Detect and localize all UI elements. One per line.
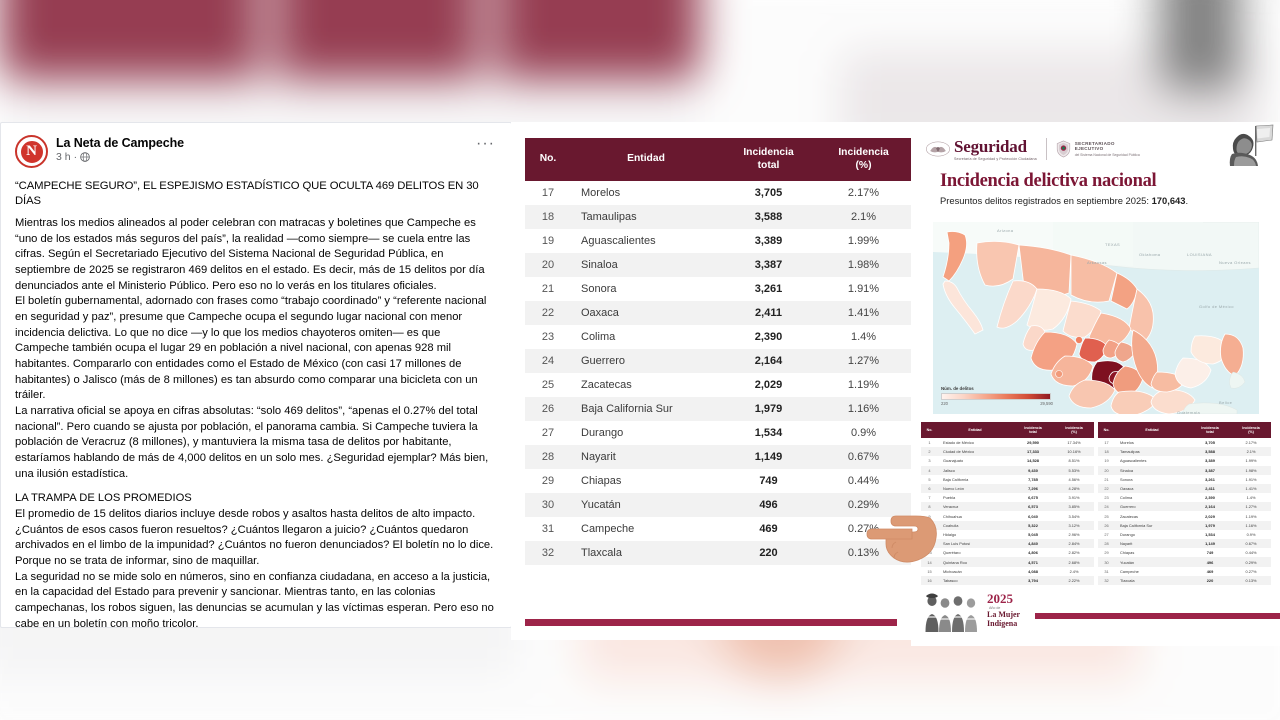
- table-row[interactable]: 25Zacatecas2,0291.19%: [525, 373, 911, 397]
- mini-table-row[interactable]: 1Estado de México29,59017.34%: [921, 438, 1094, 447]
- table-row[interactable]: 31Campeche4690.27%: [525, 517, 911, 541]
- map-label: TEXAS: [1105, 242, 1120, 247]
- mini-cell-no: 21: [1098, 475, 1115, 484]
- mini-cell-percent: 1.41%: [1231, 484, 1271, 493]
- mini-table-right: No. Entidad Incidenciatotal Incidencia(%…: [1098, 422, 1271, 585]
- map-label: Arkansas: [1087, 260, 1107, 265]
- mini-cell-no: 28: [1098, 539, 1115, 548]
- mini-table-row[interactable]: 27Durango1,5340.9%: [1098, 530, 1271, 539]
- mini-table-row[interactable]: 6Nuevo León7,2964.28%: [921, 484, 1094, 493]
- map-legend: Núm. de delitos 220 29,590: [941, 386, 1053, 406]
- mini-table-row[interactable]: 17Morelos3,7052.17%: [1098, 438, 1271, 447]
- mini-cell-no: 31: [1098, 567, 1115, 576]
- mini-table-row[interactable]: 21Sonora3,2611.91%: [1098, 475, 1271, 484]
- post-author-block: La Neta de Campeche 3 h ·: [56, 135, 184, 163]
- secretariado-line3: del Sistema Nacional de Seguridad Públic…: [1075, 153, 1140, 157]
- mini-col-no: No.: [921, 422, 938, 438]
- mini-cell-entidad: Ciudad de México: [938, 447, 1012, 456]
- table-cell-total: 2,029: [721, 373, 816, 397]
- mini-cell-percent: 0.27%: [1231, 567, 1271, 576]
- mini-cell-entidad: Sinaloa: [1115, 466, 1189, 475]
- mini-cell-total: 3,261: [1189, 475, 1231, 484]
- table-row[interactable]: 30Yucatán4960.29%: [525, 493, 911, 517]
- mini-tables-row: No. Entidad Incidenciatotal Incidencia(%…: [921, 422, 1271, 585]
- mini-cell-entidad: San Luis Potosí: [938, 539, 1012, 548]
- avatar-letter: N: [20, 140, 44, 164]
- map-label: Guatemala: [1177, 410, 1200, 414]
- table-cell-entidad: Durango: [571, 421, 721, 445]
- table-cell-entidad: Chiapas: [571, 469, 721, 493]
- mini-cell-no: 12: [921, 539, 938, 548]
- mini-table-row[interactable]: 29Chiapas7490.44%: [1098, 548, 1271, 557]
- mini-cell-entidad: Oaxaca: [1115, 484, 1189, 493]
- mini-table-row[interactable]: 24Guerrero2,1641.27%: [1098, 502, 1271, 511]
- table-cell-total: 2,164: [721, 349, 816, 373]
- mini-right-head: No. Entidad Incidenciatotal Incidencia(%…: [1098, 422, 1271, 438]
- mini-table-row[interactable]: 12San Luis Potosí4,8402.84%: [921, 539, 1094, 548]
- mini-cell-no: 18: [1098, 447, 1115, 456]
- mini-cell-total: 6,573: [1012, 502, 1054, 511]
- mini-cell-total: 3,705: [1189, 438, 1231, 447]
- mini-cell-percent: 1.27%: [1231, 502, 1271, 511]
- mini-table-row[interactable]: 32Tlaxcala2200.13%: [1098, 576, 1271, 585]
- map-legend-max: 29,590: [1040, 401, 1053, 406]
- mini-table-row[interactable]: 22Oaxaca2,4111.41%: [1098, 484, 1271, 493]
- table-row[interactable]: 32Tlaxcala2200.13%: [525, 541, 911, 565]
- mini-cell-entidad: Baja California Sur: [1115, 521, 1189, 530]
- mini-cell-entidad: Estado de México: [938, 438, 1012, 447]
- mini-cell-percent: 1.16%: [1231, 521, 1271, 530]
- mini-col-no: No.: [1098, 422, 1115, 438]
- mini-table-row[interactable]: 28Nayarit1,1490.67%: [1098, 539, 1271, 548]
- table-head: No. Entidad Incidenciatotal Incidencia(%…: [525, 138, 911, 181]
- mini-cell-total: 4,571: [1012, 557, 1054, 566]
- post-paragraph: El promedio de 15 delitos diarios incluy…: [15, 507, 497, 570]
- table-cell-total: 3,705: [721, 181, 816, 205]
- mini-table-row[interactable]: 20Sinaloa3,3871.98%: [1098, 466, 1271, 475]
- table-cell-no: 17: [525, 181, 571, 205]
- mini-cell-no: 8: [921, 502, 938, 511]
- mini-col-percent: Incidencia(%): [1054, 422, 1094, 438]
- table-row[interactable]: 21Sonora3,2611.91%: [525, 277, 911, 301]
- table-cell-total: 469: [721, 517, 816, 541]
- table-cell-entidad: Colima: [571, 325, 721, 349]
- table-cell-no: 29: [525, 469, 571, 493]
- post-body: Mientras los medios alineados al poder c…: [15, 216, 497, 628]
- mini-cell-no: 10: [921, 521, 938, 530]
- mini-cell-total: 749: [1189, 548, 1231, 557]
- table-cell-percent: 1.99%: [816, 229, 911, 253]
- mini-cell-entidad: Michoacán: [938, 567, 1012, 576]
- table-cell-entidad: Aguascalientes: [571, 229, 721, 253]
- post-headline: “CAMPECHE SEGURO”, EL ESPEJISMO ESTADÍST…: [15, 179, 497, 209]
- table-cell-entidad: Sinaloa: [571, 253, 721, 277]
- mini-table-row[interactable]: 16Tabasco3,7942.22%: [921, 576, 1094, 585]
- globe-icon: [80, 152, 90, 162]
- table-cell-total: 2,390: [721, 325, 816, 349]
- table-cell-percent: 1.27%: [816, 349, 911, 373]
- meta-separator: ·: [74, 151, 78, 163]
- more-options-button[interactable]: ···: [476, 139, 495, 149]
- post-meta: 3 h ·: [56, 151, 184, 163]
- mini-table-row[interactable]: 18Tamaulipas3,5882.1%: [1098, 447, 1271, 456]
- secretariado-text: SECRETARIADO EJECUTIVO del Sistema Nacio…: [1075, 141, 1140, 157]
- post-paragraph: La seguridad no se mide solo en números,…: [15, 570, 497, 628]
- table-cell-entidad: Morelos: [571, 181, 721, 205]
- mini-cell-no: 24: [1098, 502, 1115, 511]
- map-label: LOUISIANA: [1187, 252, 1212, 257]
- mini-cell-total: 4,088: [1012, 567, 1054, 576]
- brand-sub: Secretaría de Seguridad y Protección Ciu…: [954, 157, 1037, 161]
- mini-col-total: Incidenciatotal: [1189, 422, 1231, 438]
- table-cell-total: 3,389: [721, 229, 816, 253]
- mini-cell-entidad: Tabasco: [938, 576, 1012, 585]
- table-body: 17Morelos3,7052.17%18Tamaulipas3,5882.1%…: [525, 181, 911, 565]
- table-cell-entidad: Oaxaca: [571, 301, 721, 325]
- seguridad-wordmark: Seguridad Secretaría de Seguridad y Prot…: [954, 138, 1037, 161]
- mini-cell-percent: 10.16%: [1054, 447, 1094, 456]
- table-cell-entidad: Nayarit: [571, 445, 721, 469]
- mini-table-row[interactable]: 15Michoacán4,0882.4%: [921, 567, 1094, 576]
- avatar[interactable]: N: [15, 135, 48, 168]
- map-legend-scale: 220 29,590: [941, 401, 1053, 406]
- mini-cell-percent: 2.96%: [1054, 530, 1094, 539]
- mini-cell-percent: 3.54%: [1054, 511, 1094, 520]
- mini-cell-no: 16: [921, 576, 938, 585]
- column-header-entidad: Entidad: [571, 138, 721, 181]
- mini-cell-no: 5: [921, 475, 938, 484]
- table-row[interactable]: 17Morelos3,7052.17%: [525, 181, 911, 205]
- mini-cell-total: 6,675: [1012, 493, 1054, 502]
- map-label: Arizona: [997, 228, 1013, 233]
- post-header: N La Neta de Campeche 3 h · ···: [15, 135, 497, 168]
- map-label: Nueva Orleans: [1219, 260, 1251, 265]
- column-header-total: Incidenciatotal: [721, 138, 816, 181]
- table-row[interactable]: 27Durango1,5340.9%: [525, 421, 911, 445]
- table-row[interactable]: 22Oaxaca2,4111.41%: [525, 301, 911, 325]
- table-cell-percent: 1.4%: [816, 325, 911, 349]
- table-cell-total: 1,534: [721, 421, 816, 445]
- mini-cell-percent: 1.91%: [1231, 475, 1271, 484]
- mini-cell-total: 2,411: [1189, 484, 1231, 493]
- table-cell-no: 22: [525, 301, 571, 325]
- mini-cell-entidad: Sonora: [1115, 475, 1189, 484]
- mini-cell-entidad: Puebla: [938, 493, 1012, 502]
- mini-cell-percent: 0.29%: [1231, 557, 1271, 566]
- shield-icon: [1056, 140, 1071, 158]
- mini-left-body: 1Estado de México29,59017.34%2Ciudad de …: [921, 438, 1094, 585]
- mini-cell-entidad: Campeche: [1115, 567, 1189, 576]
- mini-cell-entidad: Tlaxcala: [1115, 576, 1189, 585]
- table-cell-percent: 0.29%: [816, 493, 911, 517]
- table-cell-no: 32: [525, 541, 571, 565]
- mini-cell-percent: 3.91%: [1054, 493, 1094, 502]
- mini-cell-total: 3,389: [1189, 456, 1231, 465]
- mini-table-row[interactable]: 11Hidalgo5,0452.96%: [921, 530, 1094, 539]
- mini-cell-entidad: Nuevo León: [938, 484, 1012, 493]
- mini-cell-entidad: Chiapas: [1115, 548, 1189, 557]
- table-cell-no: 26: [525, 397, 571, 421]
- mini-cell-percent: 3.85%: [1054, 502, 1094, 511]
- mini-cell-percent: 4.28%: [1054, 484, 1094, 493]
- table-cell-percent: 0.27%: [816, 517, 911, 541]
- mini-cell-no: 26: [1098, 521, 1115, 530]
- mini-left-head: No. Entidad Incidenciatotal Incidencia(%…: [921, 422, 1094, 438]
- mini-cell-entidad: Colima: [1115, 493, 1189, 502]
- post-section-title: LA TRAMPA DE LOS PROMEDIOS: [15, 491, 497, 507]
- mini-table-left: No. Entidad Incidenciatotal Incidencia(%…: [921, 422, 1094, 585]
- mini-cell-percent: 2.22%: [1054, 576, 1094, 585]
- table-row[interactable]: 24Guerrero2,1641.27%: [525, 349, 911, 373]
- mini-cell-percent: 1.99%: [1231, 456, 1271, 465]
- table-cell-total: 1,979: [721, 397, 816, 421]
- mini-cell-entidad: Coahuila: [938, 521, 1012, 530]
- footer-campaign: La MujerIndígena: [987, 611, 1020, 629]
- mini-cell-percent: 2.4%: [1054, 567, 1094, 576]
- mini-cell-total: 220: [1189, 576, 1231, 585]
- infographic-title: Incidencia delictiva nacional: [911, 168, 1280, 192]
- mini-cell-percent: 2.1%: [1231, 447, 1271, 456]
- mini-cell-total: 6,040: [1012, 511, 1054, 520]
- subtitle-prefix: Presuntos delitos registrados en septiem…: [940, 195, 1152, 206]
- subtitle-suffix: .: [1185, 195, 1188, 206]
- table-cell-percent: 1.16%: [816, 397, 911, 421]
- table-cell-no: 30: [525, 493, 571, 517]
- mini-cell-no: 3: [921, 456, 938, 465]
- brand-main: Seguridad: [954, 138, 1037, 155]
- screenshot-canvas: N La Neta de Campeche 3 h · ··· “CAMPECH…: [0, 0, 1280, 720]
- table-cell-percent: 1.41%: [816, 301, 911, 325]
- mini-right-body: 17Morelos3,7052.17%18Tamaulipas3,5882.1%…: [1098, 438, 1271, 585]
- incidence-table-panel: No. Entidad Incidenciatotal Incidencia(%…: [511, 122, 911, 640]
- table-cell-total: 496: [721, 493, 816, 517]
- table-header-row: No. Entidad Incidenciatotal Incidencia(%…: [525, 138, 911, 181]
- mini-cell-total: 14,528: [1012, 456, 1054, 465]
- mini-cell-entidad: Querétaro: [938, 548, 1012, 557]
- mini-cell-entidad: Nayarit: [1115, 539, 1189, 548]
- mini-cell-no: 1: [921, 438, 938, 447]
- mini-cell-entidad: Jalisco: [938, 466, 1012, 475]
- table-cell-no: 27: [525, 421, 571, 445]
- mini-table-row[interactable]: 8Veracruz6,5733.85%: [921, 502, 1094, 511]
- mini-cell-total: 2,390: [1189, 493, 1231, 502]
- map-legend-min: 220: [941, 401, 948, 406]
- table-cell-no: 19: [525, 229, 571, 253]
- table-row[interactable]: 23Colima2,3901.4%: [525, 325, 911, 349]
- mini-col-entidad: Entidad: [1115, 422, 1189, 438]
- mini-cell-no: 23: [1098, 493, 1115, 502]
- table-row[interactable]: 19Aguascalientes3,3891.99%: [525, 229, 911, 253]
- mini-cell-total: 4,806: [1012, 548, 1054, 557]
- table-cell-entidad: Campeche: [571, 517, 721, 541]
- mini-cell-total: 3,387: [1189, 466, 1231, 475]
- map-label: Golfo de México: [1199, 304, 1234, 309]
- table-cell-no: 25: [525, 373, 571, 397]
- mini-cell-percent: 0.13%: [1231, 576, 1271, 585]
- mini-table-row[interactable]: 26Baja California Sur1,9791.16%: [1098, 521, 1271, 530]
- mini-cell-percent: 4.56%: [1054, 475, 1094, 484]
- table-cell-total: 2,411: [721, 301, 816, 325]
- map-legend-title: Núm. de delitos: [941, 386, 1053, 391]
- mini-cell-no: 9: [921, 511, 938, 520]
- table-cell-no: 24: [525, 349, 571, 373]
- table-cell-entidad: Tlaxcala: [571, 541, 721, 565]
- mini-cell-no: 20: [1098, 466, 1115, 475]
- table-row[interactable]: 28Nayarit1,1490.67%: [525, 445, 911, 469]
- table-cell-percent: 1.98%: [816, 253, 911, 277]
- mini-cell-entidad: Baja California: [938, 475, 1012, 484]
- mini-table-row[interactable]: 19Aguascalientes3,3891.99%: [1098, 456, 1271, 465]
- table-row[interactable]: 26Baja California Sur1,9791.16%: [525, 397, 911, 421]
- mini-table-row[interactable]: 2Ciudad de México17,33310.16%: [921, 447, 1094, 456]
- mini-cell-percent: 2.84%: [1054, 539, 1094, 548]
- mini-header-row: No. Entidad Incidenciatotal Incidencia(%…: [921, 422, 1094, 438]
- mini-cell-percent: 8.51%: [1054, 456, 1094, 465]
- mini-table-row[interactable]: 14Quintana Roo4,5712.68%: [921, 557, 1094, 566]
- mini-cell-entidad: Yucatán: [1115, 557, 1189, 566]
- footer-rule: [1035, 613, 1280, 619]
- mini-cell-no: 19: [1098, 456, 1115, 465]
- mini-cell-percent: 1.19%: [1231, 511, 1271, 520]
- mini-cell-entidad: Morelos: [1115, 438, 1189, 447]
- table-cell-percent: 2.17%: [816, 181, 911, 205]
- mini-table-row[interactable]: 10Coahuila5,3223.12%: [921, 521, 1094, 530]
- mini-cell-percent: 2.82%: [1054, 548, 1094, 557]
- mini-cell-total: 5,045: [1012, 530, 1054, 539]
- infographic-subtitle: Presuntos delitos registrados en septiem…: [911, 192, 1280, 206]
- mini-table-row[interactable]: 7Puebla6,6753.91%: [921, 493, 1094, 502]
- mini-cell-percent: 0.44%: [1231, 548, 1271, 557]
- table-cell-no: 28: [525, 445, 571, 469]
- mini-table-row[interactable]: 5Baja California7,7854.56%: [921, 475, 1094, 484]
- table-cell-percent: 0.67%: [816, 445, 911, 469]
- mini-cell-total: 29,590: [1012, 438, 1054, 447]
- mini-cell-no: 22: [1098, 484, 1115, 493]
- mini-cell-entidad: Hidalgo: [938, 530, 1012, 539]
- infographic-brandbar: Seguridad Secretaría de Seguridad y Prot…: [911, 122, 1280, 168]
- mini-cell-total: 469: [1189, 567, 1231, 576]
- mini-table-row[interactable]: 25Zacatecas2,0291.19%: [1098, 511, 1271, 520]
- mini-table-row[interactable]: 13Querétaro4,8062.82%: [921, 548, 1094, 557]
- mini-cell-total: 7,296: [1012, 484, 1054, 493]
- mini-col-entidad: Entidad: [938, 422, 1012, 438]
- mini-cell-no: 7: [921, 493, 938, 502]
- table-cell-entidad: Guerrero: [571, 349, 721, 373]
- mini-cell-no: 14: [921, 557, 938, 566]
- mini-cell-entidad: Guerrero: [1115, 502, 1189, 511]
- mini-cell-total: 1,534: [1189, 530, 1231, 539]
- mini-col-total: Incidenciatotal: [1012, 422, 1054, 438]
- table-cell-no: 20: [525, 253, 571, 277]
- mini-cell-percent: 0.9%: [1231, 530, 1271, 539]
- mini-cell-entidad: Zacatecas: [1115, 511, 1189, 520]
- mini-cell-total: 17,333: [1012, 447, 1054, 456]
- panel-footer-bar: [525, 619, 897, 626]
- table-cell-percent: 1.19%: [816, 373, 911, 397]
- mini-cell-percent: 1.4%: [1231, 493, 1271, 502]
- mini-header-row: No. Entidad Incidenciatotal Incidencia(%…: [1098, 422, 1271, 438]
- table-cell-total: 220: [721, 541, 816, 565]
- mini-cell-entidad: Durango: [1115, 530, 1189, 539]
- secretariado-ejecutivo-logo: SECRETARIADO EJECUTIVO del Sistema Nacio…: [1056, 140, 1140, 158]
- indigenous-women-illustration: [923, 590, 985, 632]
- mini-cell-percent: 5.53%: [1054, 466, 1094, 475]
- mini-cell-no: 4: [921, 466, 938, 475]
- facebook-post-card: N La Neta de Campeche 3 h · ··· “CAMPECH…: [0, 122, 512, 628]
- column-header-percent: Incidencia(%): [816, 138, 911, 181]
- mini-cell-total: 1,979: [1189, 521, 1231, 530]
- mini-table-row[interactable]: 4Jalisco9,4305.53%: [921, 466, 1094, 475]
- table-cell-total: 1,149: [721, 445, 816, 469]
- table-cell-no: 31: [525, 517, 571, 541]
- table-cell-no: 18: [525, 205, 571, 229]
- mini-cell-total: 496: [1189, 557, 1231, 566]
- infographic-panel: Seguridad Secretaría de Seguridad y Prot…: [911, 122, 1280, 646]
- mini-table-row[interactable]: 23Colima2,3901.4%: [1098, 493, 1271, 502]
- table-cell-total: 3,588: [721, 205, 816, 229]
- mini-cell-entidad: Tamaulipas: [1115, 447, 1189, 456]
- mini-cell-entidad: Veracruz: [938, 502, 1012, 511]
- mini-cell-entidad: Guanajuato: [938, 456, 1012, 465]
- table-cell-total: 749: [721, 469, 816, 493]
- table-cell-percent: 0.13%: [816, 541, 911, 565]
- column-header-no: No.: [525, 138, 571, 181]
- table-cell-percent: 1.91%: [816, 277, 911, 301]
- mini-cell-no: 17: [1098, 438, 1115, 447]
- post-paragraph: El boletín gubernamental, adornado con f…: [15, 294, 497, 404]
- mini-cell-entidad: Aguascalientes: [1115, 456, 1189, 465]
- subtitle-value: 170,643: [1152, 195, 1186, 206]
- mini-col-percent: Incidencia(%): [1231, 422, 1271, 438]
- footer-year: 2025: [987, 592, 1013, 605]
- table-cell-percent: 0.9%: [816, 421, 911, 445]
- mini-cell-no: 27: [1098, 530, 1115, 539]
- mini-cell-total: 5,322: [1012, 521, 1054, 530]
- secretariado-line2: EJECUTIVO: [1075, 146, 1140, 151]
- table-cell-entidad: Tamaulipas: [571, 205, 721, 229]
- mini-table-row[interactable]: 9Chihuahua6,0403.54%: [921, 511, 1094, 520]
- table-row[interactable]: 18Tamaulipas3,5882.1%: [525, 205, 911, 229]
- mini-cell-no: 25: [1098, 511, 1115, 520]
- mini-cell-percent: 17.34%: [1054, 438, 1094, 447]
- mini-cell-total: 9,430: [1012, 466, 1054, 475]
- table-cell-entidad: Baja California Sur: [571, 397, 721, 421]
- mexican-eagle-icon: [925, 140, 951, 158]
- mini-table-row[interactable]: 30Yucatán4960.29%: [1098, 557, 1271, 566]
- mini-cell-total: 2,029: [1189, 511, 1231, 520]
- choropleth-map[interactable]: Arizona TEXAS Oklahoma Arkansas LOUISIAN…: [933, 222, 1259, 414]
- mini-table-row[interactable]: 3Guanajuato14,5288.51%: [921, 456, 1094, 465]
- table-row[interactable]: 29Chiapas7490.44%: [525, 469, 911, 493]
- mini-cell-total: 2,164: [1189, 502, 1231, 511]
- table-cell-no: 23: [525, 325, 571, 349]
- table-cell-total: 3,261: [721, 277, 816, 301]
- table-row[interactable]: 20Sinaloa3,3871.98%: [525, 253, 911, 277]
- mini-cell-total: 4,840: [1012, 539, 1054, 548]
- mini-cell-no: 2: [921, 447, 938, 456]
- page-name[interactable]: La Neta de Campeche: [56, 136, 184, 150]
- mini-table-row[interactable]: 31Campeche4690.27%: [1098, 567, 1271, 576]
- infographic-footer: 2025 Año de La MujerIndígena: [911, 588, 1280, 634]
- mini-cell-entidad: Chihuahua: [938, 511, 1012, 520]
- mini-cell-no: 6: [921, 484, 938, 493]
- flag-bearer-icon: [1226, 124, 1274, 168]
- post-paragraph: La narrativa oficial se apoya en cifras …: [15, 404, 497, 482]
- mini-cell-no: 30: [1098, 557, 1115, 566]
- post-time[interactable]: 3 h: [56, 151, 71, 163]
- table-cell-entidad: Zacatecas: [571, 373, 721, 397]
- map-label: Belice: [1219, 400, 1232, 405]
